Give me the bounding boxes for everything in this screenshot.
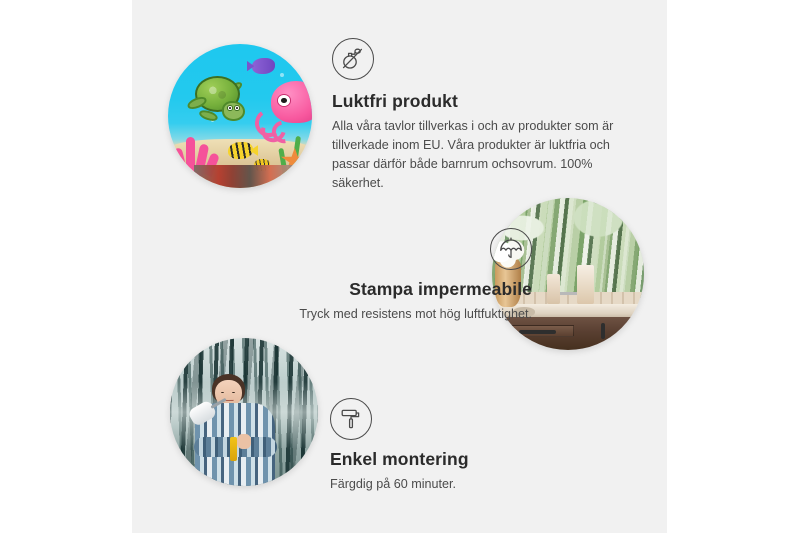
- feature-title: Luktfri produkt: [332, 91, 632, 113]
- content-panel: Luktfri produkt Alla våra tavlor tillver…: [132, 0, 667, 533]
- no-fragrance-spray-bottle-icon: [332, 38, 374, 80]
- feature-description: Tryck med resistens mot hög luftfuktighe…: [202, 305, 532, 324]
- feature-easy-assembly: Enkel montering Färgdig på 60 minuter.: [330, 398, 610, 494]
- feature-waterproof: Stampa impermeabile Tryck med resistens …: [202, 228, 532, 324]
- feature-odourless: Luktfri produkt Alla våra tavlor tillver…: [332, 38, 632, 193]
- product-image-ocean: [168, 44, 312, 188]
- feature-title: Enkel montering: [330, 449, 610, 471]
- product-feature-panel: Luktfri produkt Alla våra tavlor tillver…: [0, 0, 800, 533]
- feature-description: Alla våra tavlor tillverkas i och av pro…: [332, 117, 632, 194]
- paint-roller-icon: [330, 398, 372, 440]
- feature-title: Stampa impermeabile: [202, 279, 532, 301]
- umbrella-icon: [490, 228, 532, 270]
- product-image-woman: [170, 338, 318, 486]
- feature-description: Färgdig på 60 minuter.: [330, 475, 610, 494]
